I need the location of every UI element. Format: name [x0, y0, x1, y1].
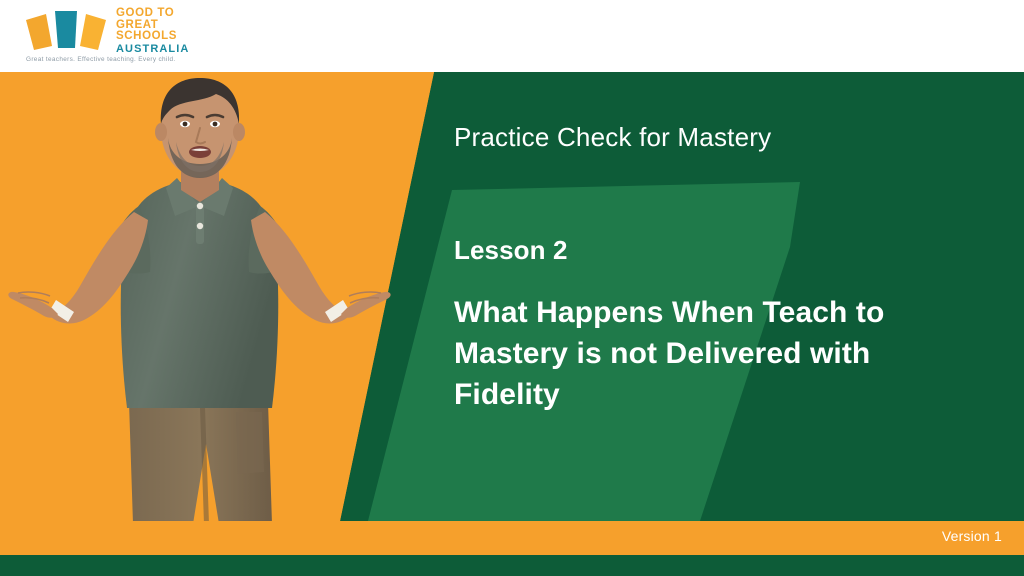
logo-wordmark: GOOD TO GREAT SCHOOLS AUSTRALIA	[116, 8, 208, 56]
slide-text-block: Practice Check for Mastery Lesson 2 What…	[454, 72, 974, 415]
header-band: GOOD TO GREAT SCHOOLS AUSTRALIA Great te…	[0, 0, 1024, 72]
logo-line-4: AUSTRALIA	[116, 44, 208, 56]
footer-green-bar	[0, 555, 1024, 576]
logo-line-3: SCHOOLS	[116, 31, 208, 43]
logo-tagline: Great teachers. Effective teaching. Ever…	[26, 56, 202, 63]
presenter-photo	[0, 72, 420, 524]
slide-eyebrow: Practice Check for Mastery	[454, 122, 974, 153]
page-title: What Happens When Teach to Mastery is no…	[454, 292, 944, 415]
logo-line-1: GOOD TO	[116, 8, 208, 20]
brand-logo: GOOD TO GREAT SCHOOLS AUSTRALIA Great te…	[22, 4, 202, 70]
footer-orange-band	[0, 521, 1024, 555]
version-label: Version 1	[942, 528, 1002, 544]
three-cups-logo-mark	[22, 6, 110, 52]
lesson-label: Lesson 2	[454, 235, 974, 266]
slide-canvas: GOOD TO GREAT SCHOOLS AUSTRALIA Great te…	[0, 0, 1024, 576]
